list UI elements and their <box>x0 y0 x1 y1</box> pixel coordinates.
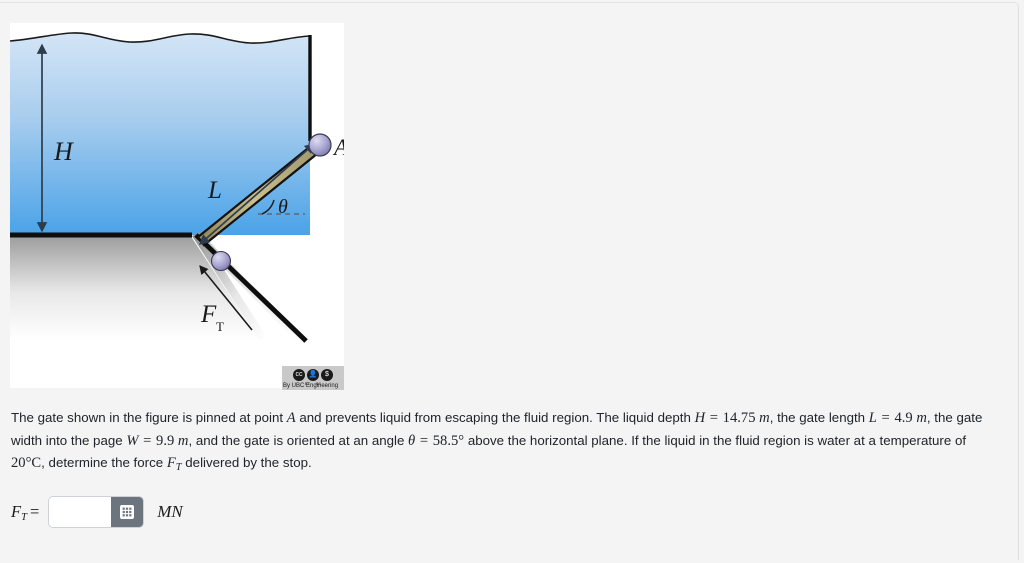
keypad-button[interactable] <box>111 497 143 527</box>
math-token-14: = <box>139 433 157 449</box>
figure-container: H L θ A F T <box>10 23 344 388</box>
answer-input-group[interactable] <box>49 497 143 527</box>
math-token-19: = <box>415 433 433 449</box>
label-length-L: L <box>207 177 222 204</box>
answer-label-equals: = <box>27 502 39 521</box>
problem-statement: The gate shown in the figure is pinned a… <box>11 407 986 479</box>
math-token-4: = <box>705 410 723 426</box>
answer-label-var: F <box>11 502 21 521</box>
figure-attribution: By UBC Engineering <box>283 383 338 389</box>
answer-label: FT= <box>11 502 39 523</box>
math-token-24: F <box>167 455 176 471</box>
math-token-13: W <box>126 433 138 449</box>
answer-unit: MN <box>157 502 183 522</box>
keypad-grid-icon <box>120 505 134 519</box>
stop-pin <box>212 252 231 271</box>
math-token-10: 4.9 <box>894 410 912 426</box>
math-token-16: m <box>174 433 188 449</box>
label-force-ft: F <box>200 301 217 328</box>
math-token-1: A <box>287 410 296 426</box>
math-token-9: = <box>877 410 895 426</box>
by-icon: 👤 <box>307 369 319 381</box>
math-token-25: T <box>176 462 182 473</box>
math-token-5: 14.75 <box>723 410 756 426</box>
answer-row: FT= <box>11 497 183 527</box>
math-token-8: L <box>869 410 877 426</box>
pin-joint-a <box>309 134 331 156</box>
cc-icon: cc <box>293 369 305 381</box>
label-depth-H: H <box>53 137 74 166</box>
math-token-15: 9.9 <box>156 433 174 449</box>
math-token-3: H <box>695 410 706 426</box>
math-token-11: m <box>913 410 927 426</box>
nc-icon: $ <box>321 369 333 381</box>
math-token-20: 58.5° <box>433 433 464 449</box>
label-force-ft-subscript: T <box>216 319 224 334</box>
problem-page: H L θ A F T cc 👤 $ BY NC By UBC Engineer… <box>0 2 1019 560</box>
math-token-22: 20°C <box>11 455 41 471</box>
pinned-gate-fluid-diagram: H L θ A F T <box>10 23 344 388</box>
answer-input[interactable] <box>49 497 111 527</box>
label-point-a: A <box>332 135 344 160</box>
math-token-6: m <box>756 410 770 426</box>
label-angle-theta: θ <box>278 196 288 218</box>
